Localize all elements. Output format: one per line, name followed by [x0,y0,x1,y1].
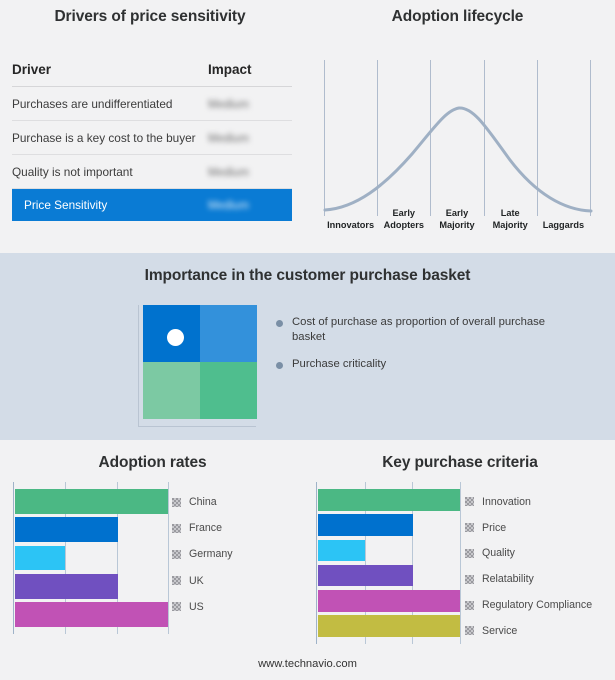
legend-swatch-icon [465,497,474,506]
bar[interactable] [318,514,413,536]
impact-value: Medium [208,133,249,145]
bar-row [318,489,460,511]
legend-row[interactable]: Relatability [465,566,615,592]
legend-label: Cost of purchase as proportion of overal… [292,316,545,343]
legend-swatch-icon [465,626,474,635]
bar[interactable] [15,546,65,571]
legend-swatch-icon [465,575,474,584]
bullet-icon [276,362,283,369]
quadrant-bottom-left [143,362,200,419]
impact-value: Medium [208,200,249,212]
driver-label: Purchases are undifferentiated [12,97,172,111]
stage-label: Early Majority [430,208,483,231]
key-purchase-criteria-legend: InnovationPriceQualityRelatabilityRegula… [465,489,615,644]
bar[interactable] [318,615,460,637]
adoption-rates-panel: Adoption rates ChinaFranceGermanyUKUS [0,440,305,680]
legend-label: Purchase criticality [292,358,386,370]
adoption-lifecycle-chart: InnovatorsEarly AdoptersEarly MajorityLa… [322,58,594,233]
table-header-row: Driver Impact [12,62,292,87]
legend-row[interactable]: Germany [172,541,297,567]
legend-label: Price [482,522,506,534]
lifecycle-panel: Adoption lifecycle InnovatorsEarly Adopt… [300,0,615,253]
legend-swatch-icon [172,550,181,559]
quadrant-top-left [143,305,200,362]
impact-value: Medium [208,99,249,111]
legend-row[interactable]: UK [172,568,297,594]
bar-row [318,615,460,637]
stage-label: Late Majority [484,208,537,231]
gridline [168,482,169,634]
stage-label: Innovators [324,220,377,231]
position-dot-icon [167,329,184,346]
importance-legend: Cost of purchase as proportion of overal… [276,315,576,385]
legend-row[interactable]: US [172,594,297,620]
legend-swatch-icon [172,576,181,585]
legend-swatch-icon [465,523,474,532]
criteria-bars [318,489,460,637]
gridline [460,482,461,644]
bar[interactable] [15,602,168,627]
bar[interactable] [318,540,365,562]
key-purchase-criteria-chart [316,482,460,644]
legend-row[interactable]: Service [465,618,615,644]
legend-label: Quality [482,547,515,559]
key-purchase-criteria-title: Key purchase criteria [305,454,615,472]
legend-row[interactable]: France [172,515,297,541]
adoption-rates-legend: ChinaFranceGermanyUKUS [172,489,297,620]
legend-label: Regulatory Compliance [482,599,592,611]
bar-row [318,514,460,536]
drivers-table: Driver Impact Purchases are undifferenti… [12,62,292,221]
adoption-curve-path [325,108,591,211]
driver-name-cell: Quality is not important [12,155,208,189]
criteria-plot-area [316,482,460,644]
stage-label: Laggards [537,220,590,231]
bell-curve-svg [322,58,594,233]
bar[interactable] [15,489,168,514]
bar-row [15,602,168,627]
driver-label: Quality is not important [12,165,133,179]
drivers-table-body: Purchases are undifferentiatedMediumPurc… [12,87,292,222]
legend-label: US [189,601,204,613]
bar[interactable] [318,489,460,511]
legend-item: Purchase criticality [276,357,576,372]
drivers-title: Drivers of price sensitivity [0,8,300,26]
quadrant-bottom-right [200,362,257,419]
legend-swatch-icon [172,524,181,533]
bar[interactable] [318,565,413,587]
impact-cell: Medium [208,87,292,121]
bar[interactable] [15,574,118,599]
impact-value: Medium [208,167,249,179]
adoption-rates-title: Adoption rates [0,454,305,472]
bar-row [318,565,460,587]
adoption-bars [15,489,168,627]
stage-label: Early Adopters [377,208,430,231]
legend-row[interactable]: Quality [465,541,615,567]
table-row[interactable]: Price SensitivityMedium [12,189,292,222]
bar-row [15,489,168,514]
impact-cell: Medium [208,121,292,155]
adoption-plot-area [13,482,168,634]
table-row[interactable]: Quality is not importantMedium [12,155,292,189]
stage-divider-lines [325,60,591,216]
driver-name-cell: Purchase is a key cost to the buyer [12,121,208,155]
column-header-driver: Driver [12,62,208,87]
bar-row [318,590,460,612]
quadrant-top-right [200,305,257,362]
bullet-icon [276,320,283,327]
legend-label: UK [189,575,204,587]
legend-label: Germany [189,548,233,560]
importance-title: Importance in the customer purchase bask… [0,267,615,285]
legend-label: Service [482,625,517,637]
impact-cell: Medium [208,155,292,189]
impact-cell: Medium [208,189,292,222]
legend-swatch-icon [172,602,181,611]
legend-row[interactable]: Regulatory Compliance [465,592,615,618]
bar[interactable] [15,517,118,542]
legend-swatch-icon [465,549,474,558]
legend-swatch-icon [465,601,474,610]
driver-name-cell: Purchases are undifferentiated [12,87,208,121]
lifecycle-title: Adoption lifecycle [300,8,615,26]
legend-row[interactable]: Price [465,515,615,541]
bar-row [318,540,460,562]
quadrant-matrix [143,305,257,419]
table-row[interactable]: Purchases are undifferentiatedMedium [12,87,292,121]
legend-label: China [189,496,217,508]
quadrant-matrix-frame [138,305,256,427]
drivers-panel: Drivers of price sensitivity Driver Impa… [0,0,300,253]
bar[interactable] [318,590,460,612]
bar-row [15,546,168,571]
driver-label: Purchase is a key cost to the buyer [12,131,196,145]
table-row[interactable]: Purchase is a key cost to the buyerMediu… [12,121,292,155]
legend-label: France [189,522,222,534]
legend-label: Relatability [482,573,534,585]
legend-row[interactable]: China [172,489,297,515]
driver-label: Price Sensitivity [24,198,107,212]
column-header-impact: Impact [208,62,292,87]
importance-panel: Importance in the customer purchase bask… [0,253,615,440]
legend-row[interactable]: Innovation [465,489,615,515]
legend-label: Innovation [482,496,531,508]
footer-url: www.technavio.com [0,658,615,670]
driver-name-cell: Price Sensitivity [12,189,208,222]
adoption-rates-chart [13,482,168,634]
bar-row [15,517,168,542]
legend-swatch-icon [172,498,181,507]
legend-item: Cost of purchase as proportion of overal… [276,315,576,344]
bar-row [15,574,168,599]
key-purchase-criteria-panel: Key purchase criteria InnovationPriceQua… [305,440,615,680]
